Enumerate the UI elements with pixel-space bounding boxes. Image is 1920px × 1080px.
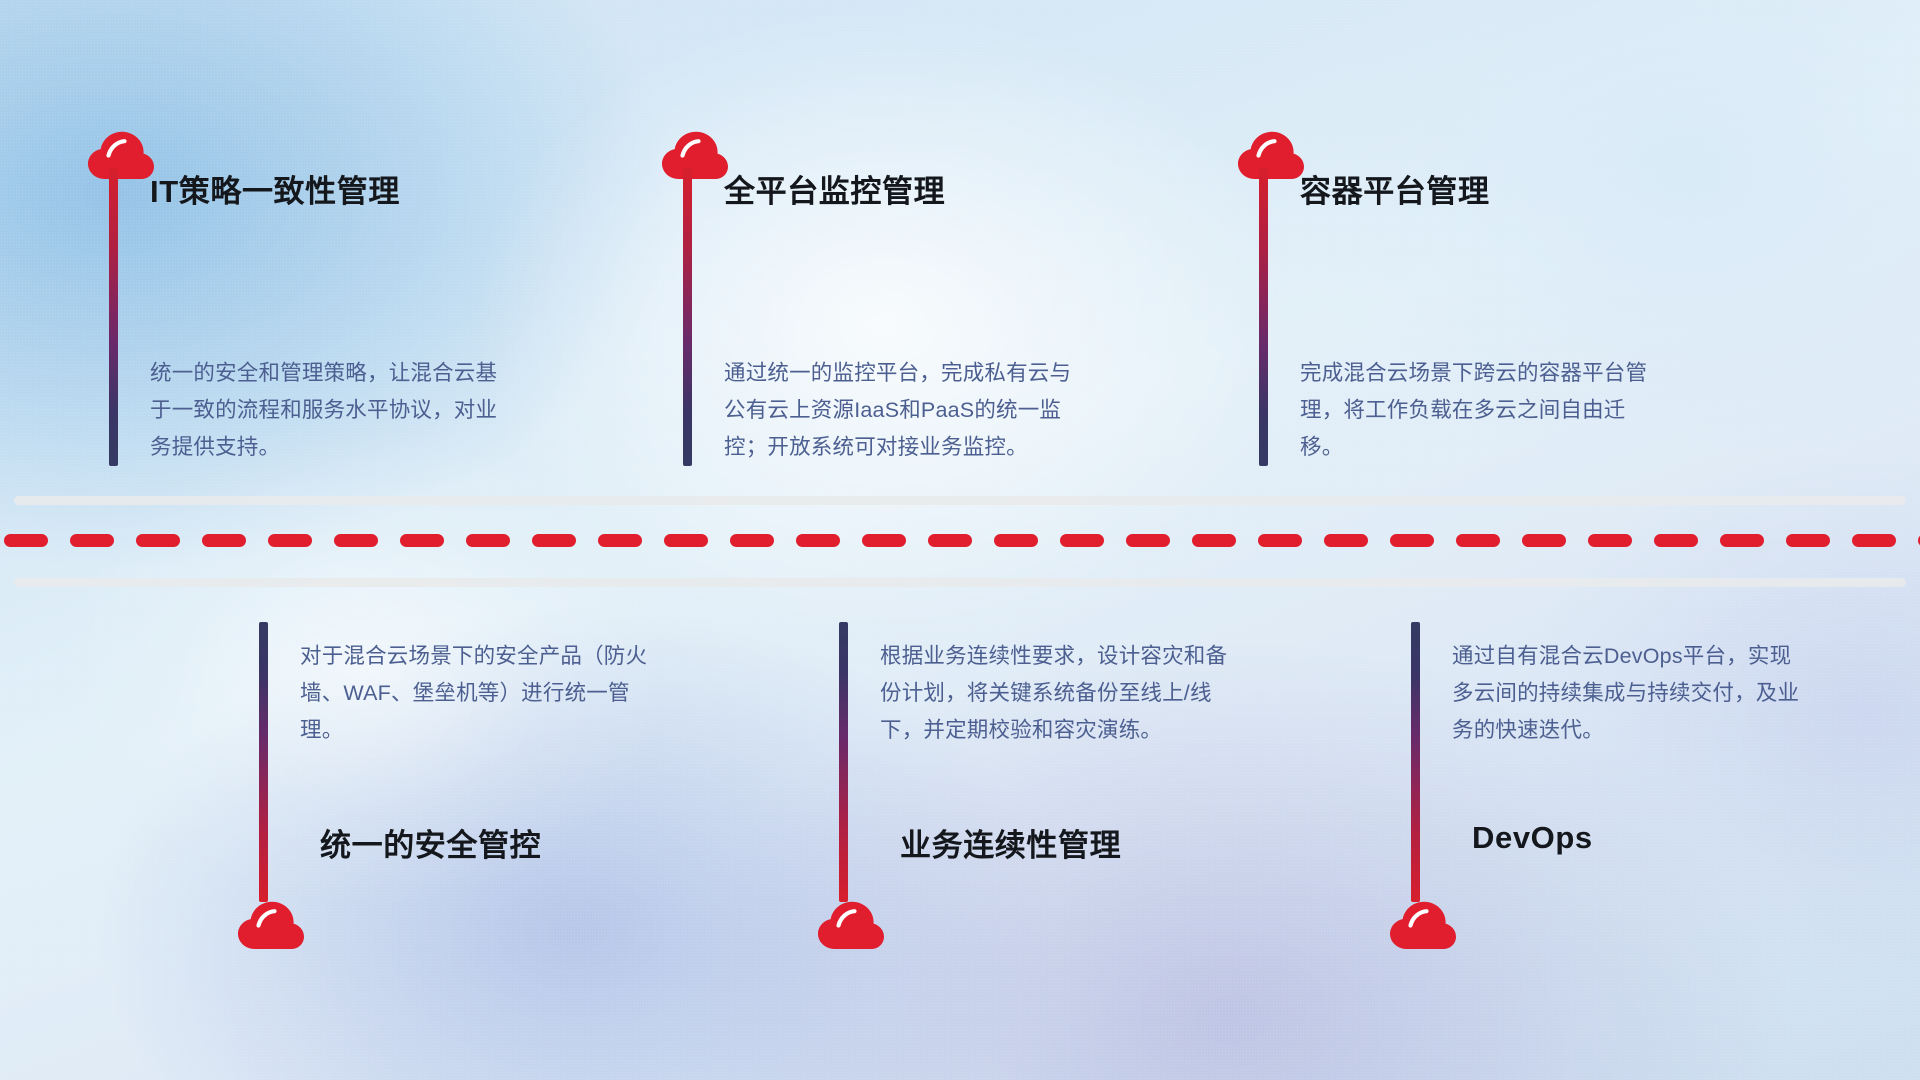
cloud-icon bbox=[818, 898, 884, 950]
card-title: IT策略一致性管理 bbox=[150, 166, 400, 211]
divider-dash bbox=[664, 534, 708, 547]
cloud-icon bbox=[662, 128, 728, 180]
section-divider bbox=[0, 492, 1920, 588]
card-title: 统一的安全管控 bbox=[320, 820, 541, 865]
divider-dash bbox=[1456, 534, 1500, 547]
divider-dash bbox=[994, 534, 1038, 547]
connector-stem bbox=[259, 622, 268, 902]
divider-rule-top bbox=[14, 496, 1906, 505]
divider-dash bbox=[1654, 534, 1698, 547]
card-body: 统一的安全和管理策略，让混合云基于一致的流程和服务水平协议，对业务提供支持。 bbox=[150, 355, 510, 466]
divider-dash bbox=[1522, 534, 1566, 547]
divider-dash bbox=[1852, 534, 1896, 547]
divider-dash bbox=[1720, 534, 1764, 547]
divider-dash bbox=[1126, 534, 1170, 547]
cloud-icon bbox=[88, 128, 154, 180]
card-body: 通过统一的监控平台，完成私有云与公有云上资源IaaS和PaaS的统一监控；开放系… bbox=[724, 355, 1084, 466]
connector-stem bbox=[1411, 622, 1420, 902]
card-body: 完成混合云场景下跨云的容器平台管理，将工作负载在多云之间自由迁移。 bbox=[1300, 355, 1660, 466]
divider-dash bbox=[1390, 534, 1434, 547]
divider-dash bbox=[796, 534, 840, 547]
connector-stem bbox=[1259, 168, 1268, 466]
divider-dash bbox=[334, 534, 378, 547]
divider-dash bbox=[466, 534, 510, 547]
divider-dash bbox=[268, 534, 312, 547]
card-title: 业务连续性管理 bbox=[900, 820, 1121, 865]
card-title: 全平台监控管理 bbox=[724, 166, 945, 211]
card-title: 容器平台管理 bbox=[1300, 166, 1490, 211]
divider-dash bbox=[1786, 534, 1830, 547]
cloud-icon bbox=[1390, 898, 1456, 950]
divider-dash bbox=[70, 534, 114, 547]
divider-dash bbox=[862, 534, 906, 547]
cloud-icon bbox=[238, 898, 304, 950]
card-body: 对于混合云场景下的安全产品（防火墙、WAF、堡垒机等）进行统一管理。 bbox=[300, 638, 660, 749]
divider-dash bbox=[532, 534, 576, 547]
divider-rule-bottom bbox=[14, 578, 1906, 587]
infographic-canvas: IT策略一致性管理 统一的安全和管理策略，让混合云基于一致的流程和服务水平协议，… bbox=[0, 0, 1920, 1080]
divider-dash bbox=[598, 534, 642, 547]
divider-dash bbox=[4, 534, 48, 547]
divider-dash bbox=[202, 534, 246, 547]
divider-dash bbox=[730, 534, 774, 547]
card-title: DevOps bbox=[1472, 820, 1593, 856]
connector-stem bbox=[109, 168, 118, 466]
divider-dash bbox=[1060, 534, 1104, 547]
cloud-icon bbox=[1238, 128, 1304, 180]
connector-stem bbox=[683, 168, 692, 466]
card-body: 通过自有混合云DevOps平台，实现多云间的持续集成与持续交付，及业务的快速迭代… bbox=[1452, 638, 1812, 749]
divider-dash bbox=[928, 534, 972, 547]
divider-dash bbox=[1324, 534, 1368, 547]
connector-stem bbox=[839, 622, 848, 902]
card-body: 根据业务连续性要求，设计容灾和备份计划，将关键系统备份至线上/线下，并定期校验和… bbox=[880, 638, 1240, 749]
divider-dash bbox=[1588, 534, 1632, 547]
divider-dash bbox=[400, 534, 444, 547]
divider-dashed-line bbox=[0, 534, 1920, 547]
divider-dash bbox=[136, 534, 180, 547]
divider-dash bbox=[1258, 534, 1302, 547]
divider-dash bbox=[1192, 534, 1236, 547]
